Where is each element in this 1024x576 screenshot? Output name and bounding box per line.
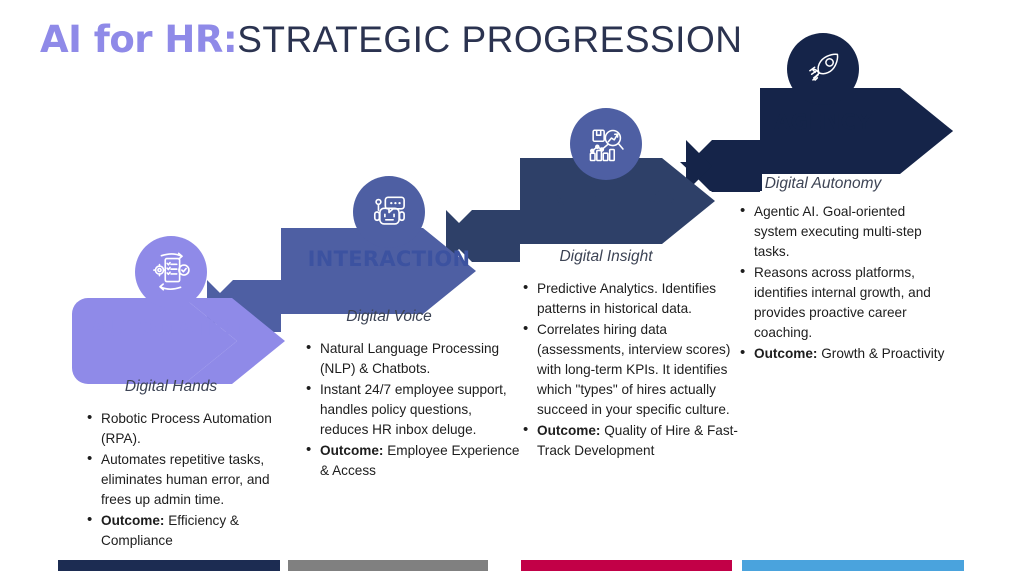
stage-subtitle-automation: Digital Hands: [61, 378, 281, 396]
list-item: Outcome: Efficiency & Compliance: [99, 511, 289, 551]
clipboard-checklist-gear-icon: [135, 236, 207, 308]
list-item: Robotic Process Automation (RPA).: [99, 409, 289, 449]
list-item: Predictive Analytics. Identifies pattern…: [535, 279, 738, 319]
stage-name-interaction: INTERACTION: [279, 247, 499, 271]
stage-name-prediction: PREDICTION: [496, 186, 716, 210]
bar-crimson: [521, 560, 732, 571]
stage-subtitle-prediction: Digital Insight: [496, 248, 716, 266]
list-item: Reasons across platforms, identifies int…: [752, 263, 950, 343]
stage-bullets-agency: Agentic AI. Goal-oriented system executi…: [735, 202, 950, 365]
list-item: Natural Language Processing (NLP) & Chat…: [318, 339, 522, 379]
stage-subtitle-interaction: Digital Voice: [279, 308, 499, 326]
list-item: Instant 24/7 employee support, handles p…: [318, 380, 522, 440]
stage-name-agency: AGENCY: [713, 110, 933, 134]
bar-navy: [58, 560, 280, 571]
list-item: Outcome: Employee Experience & Access: [318, 441, 522, 481]
stage-name-automation: AUTOMATION: [61, 316, 281, 340]
stage-bullets-interaction: Natural Language Processing (NLP) & Chat…: [301, 339, 522, 482]
stage-bullets-automation: Robotic Process Automation (RPA). Automa…: [82, 409, 289, 552]
stage-bullets-prediction: Predictive Analytics. Identifies pattern…: [518, 279, 738, 462]
bar-chart-magnifier-icon: [570, 108, 642, 180]
infographic-canvas: AI for HR:STRATEGIC PROGRESSION: [0, 0, 1024, 576]
chatbot-robot-icon: [353, 176, 425, 248]
title-light: STRATEGIC PROGRESSION: [237, 19, 742, 60]
arrow-automation-shape: [72, 298, 285, 384]
bar-gray: [288, 560, 488, 571]
list-item: Outcome: Quality of Hire & Fast-Track De…: [535, 421, 738, 461]
page-title: AI for HR:STRATEGIC PROGRESSION: [40, 18, 742, 61]
title-strong: AI for HR:: [40, 18, 237, 61]
bar-lightblue: [742, 560, 964, 571]
list-item: Outcome: Growth & Proactivity: [752, 344, 950, 364]
stage-subtitle-agency: Digital Autonomy: [713, 175, 933, 193]
list-item: Automates repetitive tasks, eliminates h…: [99, 450, 289, 510]
list-item: Correlates hiring data (assessments, int…: [535, 320, 738, 420]
list-item: Agentic AI. Goal-oriented system executi…: [752, 202, 950, 262]
rocket-icon: [787, 33, 859, 105]
